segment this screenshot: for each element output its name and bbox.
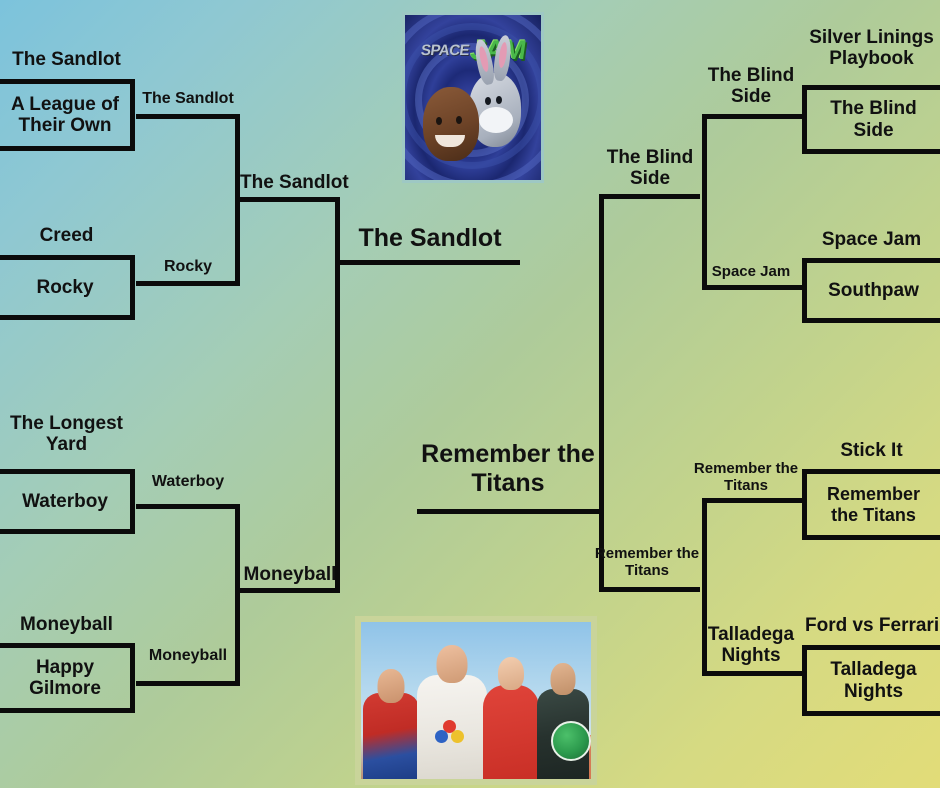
left-r3-label-1: The Sandlot	[240, 173, 340, 194]
left-r1-box-4[interactable]: Happy Gilmore	[0, 643, 135, 713]
left-r2-arm-bottom-2	[136, 681, 240, 686]
left-r2-arm-top-1	[136, 114, 240, 119]
left-finalist-name: The Sandlot	[338, 224, 522, 253]
michael-jordan-figure	[423, 87, 479, 161]
mj-smile	[435, 135, 465, 147]
left-r3-connector	[335, 197, 340, 589]
right-r2-label-1: The Blind Side	[700, 66, 802, 108]
right-r2-label-3: Remember the Titans	[690, 461, 802, 494]
character-4-head	[551, 663, 576, 695]
bunny-eye-left	[485, 97, 491, 105]
left-r2-label-1: The Sandlot	[136, 90, 240, 108]
left-r2-label-2: Rocky	[136, 258, 240, 276]
right-r1-seed-label-1: Silver Linings Playbook	[805, 28, 938, 70]
talladega-character-2	[417, 645, 487, 779]
left-r1-seed-label-4: Moneyball	[0, 615, 133, 636]
right-finalist-name: Remember the Titans	[417, 440, 599, 498]
left-r1-seed-label-2: Creed	[0, 226, 133, 247]
right-r2-arm-top-2	[702, 498, 802, 503]
right-r1-seed-label-4: Ford vs Ferrari	[805, 616, 938, 637]
left-r1-seed-label-1: The Sandlot	[0, 50, 133, 71]
space-jam-logo-word-space: SPACE	[420, 42, 470, 59]
right-r2-arm-bottom-1	[702, 285, 802, 290]
right-r1-box-1[interactable]: The Blind Side	[802, 85, 940, 154]
right-finalist-underline	[417, 509, 599, 514]
left-r2-label-3: Waterboy	[136, 473, 240, 491]
wonder-dot-yellow	[451, 730, 464, 743]
perrier-helmet	[551, 721, 591, 761]
left-r1-box-2[interactable]: Rocky	[0, 255, 135, 320]
mj-eye-left	[436, 117, 442, 125]
mj-eye-right	[456, 116, 462, 124]
left-r2-label-4: Moneyball	[136, 647, 240, 665]
tournament-bracket-page: The Sandlot A League of Their Own Creed …	[0, 0, 940, 788]
left-r2-arm-bottom-1	[136, 281, 240, 286]
character-1-head	[378, 669, 405, 703]
talladega-nights-poster	[355, 616, 597, 785]
left-r3-arm-top	[240, 197, 340, 202]
bunny-face	[479, 107, 513, 133]
bunny-eye-right	[496, 96, 502, 104]
character-3-head	[498, 657, 524, 690]
left-r1-seed-label-3: The Longest Yard	[0, 414, 133, 456]
left-r1-box-3[interactable]: Waterboy	[0, 469, 135, 534]
left-finalist-underline	[338, 260, 520, 265]
right-r2-arm-bottom-2	[702, 671, 802, 676]
space-jam-logo: SPACE JAM	[417, 33, 529, 67]
left-r3-label-2: Moneyball	[240, 565, 340, 586]
right-r1-box-2[interactable]: Southpaw	[802, 258, 940, 323]
wonder-dot-blue	[435, 730, 448, 743]
talladega-character-1	[363, 667, 419, 779]
left-r3-arm-bottom	[240, 588, 340, 593]
right-r3-connector	[599, 194, 604, 592]
right-r1-seed-label-3: Stick It	[805, 441, 938, 462]
character-2-head	[437, 645, 468, 683]
right-r2-arm-top-1	[702, 114, 802, 119]
left-r2-arm-top-2	[136, 504, 240, 509]
right-r1-seed-label-2: Space Jam	[805, 230, 938, 251]
talladega-character-4	[537, 661, 589, 779]
right-r2-label-4: Talladega Nights	[700, 625, 802, 667]
right-r3-label-2: Remember the Titans	[592, 546, 702, 579]
right-r1-box-4[interactable]: Talladega Nights	[802, 645, 940, 716]
right-r3-label-1: The Blind Side	[600, 148, 700, 190]
right-r3-arm-bottom	[599, 587, 700, 592]
talladega-character-3	[483, 653, 539, 779]
right-r2-label-2: Space Jam	[700, 264, 802, 281]
right-r3-arm-top	[599, 194, 700, 199]
space-jam-poster: SPACE JAM	[402, 12, 544, 183]
right-r1-box-3[interactable]: Remember the Titans	[802, 469, 940, 540]
left-r1-box-1[interactable]: A League of Their Own	[0, 79, 135, 151]
